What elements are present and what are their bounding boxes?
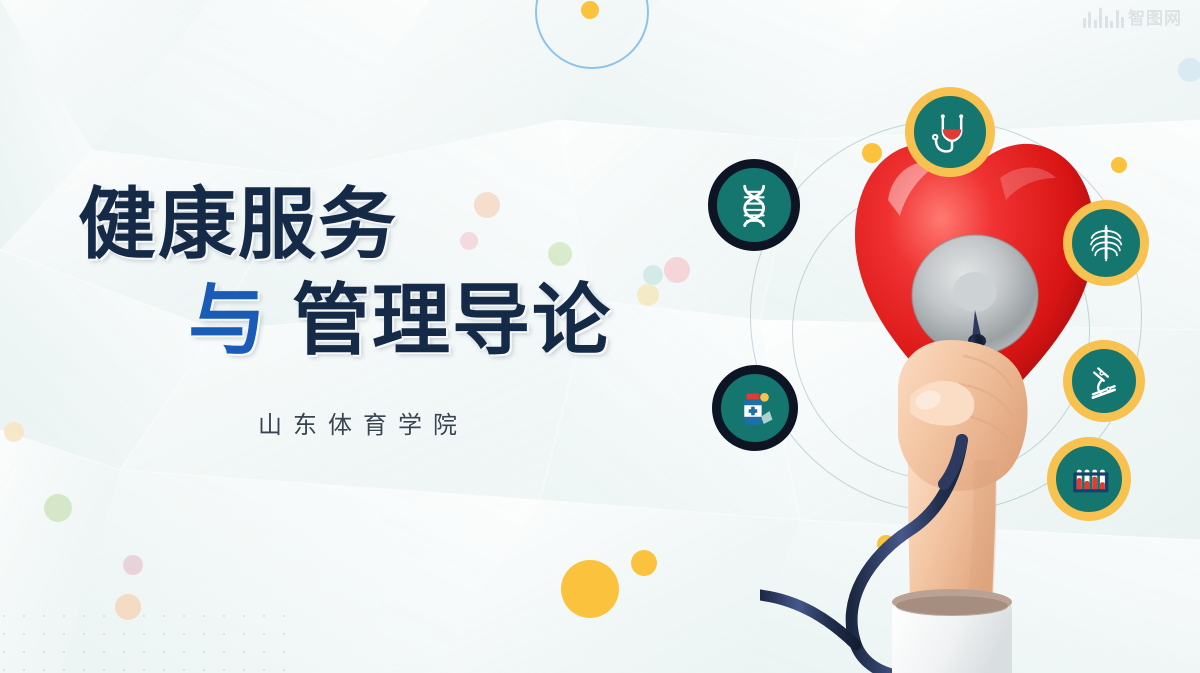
title-line-1: 健康服务 bbox=[78, 186, 698, 266]
microscope-icon-glyph bbox=[1082, 359, 1126, 403]
dot-apricot bbox=[115, 594, 141, 620]
watermark: 智图网 bbox=[1083, 6, 1183, 28]
subtitle-organization: 山东体育学院 bbox=[258, 405, 698, 440]
ribcage-icon-glyph bbox=[1083, 220, 1129, 266]
slide-canvas: 健康服务 与管理导论 山东体育学院 bbox=[0, 0, 1200, 673]
watermark-bar bbox=[1121, 17, 1124, 28]
watermark-bar bbox=[1116, 10, 1119, 28]
title-line-2-rest: 管理导论 bbox=[292, 276, 612, 366]
watermark-bar bbox=[1083, 18, 1086, 28]
stethoscope-tube-tail bbox=[760, 595, 856, 645]
title-block: 健康服务 与管理导论 山东体育学院 bbox=[78, 186, 698, 440]
yellow-circle-large bbox=[561, 560, 619, 618]
dot-mint bbox=[44, 494, 72, 522]
yellow-circle-small bbox=[631, 550, 657, 576]
stethoscope-icon[interactable] bbox=[905, 87, 995, 177]
watermark-bars-icon bbox=[1083, 6, 1125, 28]
test-tubes-icon-glyph bbox=[1067, 457, 1112, 502]
sleeve-cuff bbox=[892, 589, 1012, 673]
watermark-bar bbox=[1110, 21, 1113, 28]
title-line-2: 与管理导论 bbox=[188, 282, 698, 362]
watermark-bar bbox=[1094, 20, 1097, 28]
stethoscope-icon-glyph bbox=[926, 108, 975, 157]
test-tubes-icon[interactable] bbox=[1047, 437, 1131, 521]
watermark-bar bbox=[1099, 8, 1102, 28]
watermark-bar bbox=[1105, 16, 1108, 28]
microscope-icon[interactable] bbox=[1063, 340, 1145, 422]
medicine-icon[interactable] bbox=[712, 365, 798, 451]
dna-icon[interactable] bbox=[708, 159, 800, 251]
medicine-icon-glyph bbox=[732, 385, 778, 431]
watermark-bar bbox=[1088, 12, 1091, 28]
title-accent-char: 与 bbox=[188, 276, 268, 366]
yellow-dot-top bbox=[581, 1, 599, 19]
watermark-text: 智图网 bbox=[1128, 11, 1182, 28]
dot-cream bbox=[4, 422, 24, 442]
ribcage-icon[interactable] bbox=[1063, 200, 1149, 286]
dot-mauve bbox=[123, 555, 143, 575]
dot-grid-pattern bbox=[0, 607, 294, 673]
hand-and-forearm bbox=[898, 340, 1028, 620]
dna-icon-glyph bbox=[729, 180, 779, 230]
